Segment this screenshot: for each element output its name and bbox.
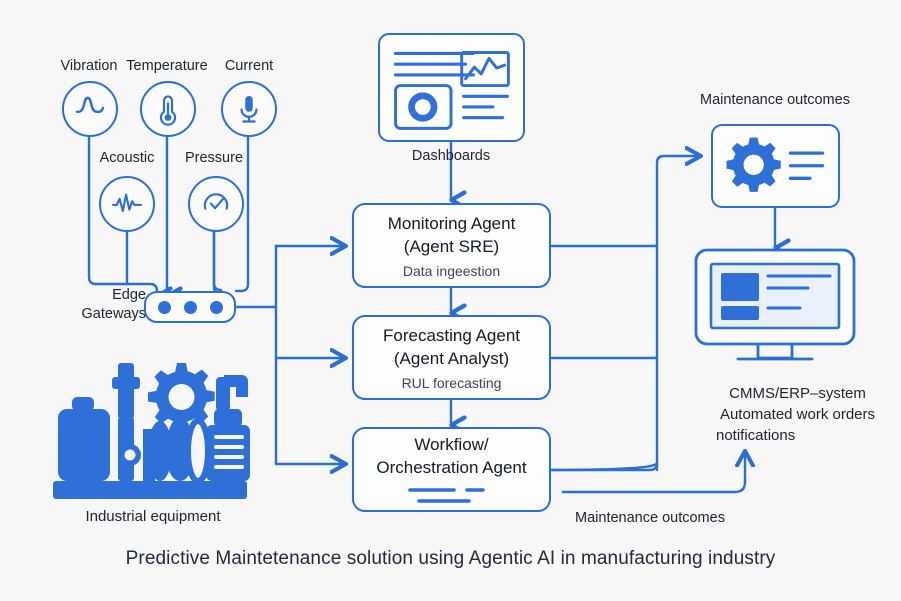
forecasting-agent-title-line1: Forecasting Agent	[383, 324, 520, 347]
gauge-icon	[190, 178, 242, 230]
gateway-dot-2	[184, 301, 197, 314]
dashboards-label: Dashboards	[391, 148, 511, 165]
maintenance-outcomes-top-label: Maintenance outcomes	[680, 92, 870, 109]
workflow-lines-icon	[407, 485, 497, 507]
gateway-dot-3	[210, 301, 223, 314]
industrial-equipment-illustration	[48, 355, 258, 505]
monitoring-agent-title-line1: Monitoring Agent	[388, 212, 516, 235]
monitoring-agent-title-line2: (Agent SRE)	[404, 235, 499, 258]
edge-gateway-label-line2: Gateways	[62, 305, 146, 324]
cmms-caption: CMMS/ERP–system Automated work orders no…	[700, 383, 895, 446]
sensor-circle-vibration[interactable]	[62, 81, 118, 137]
edge-gateway-label: Edge Gateways	[62, 286, 146, 324]
vibration-wave-icon	[64, 83, 116, 135]
gear-outcome-icon	[713, 126, 838, 207]
agent-box-monitoring[interactable]: Monitoring Agent (Agent SRE) Data ingees…	[352, 203, 551, 288]
edge-gateway-device[interactable]	[144, 291, 236, 323]
acoustic-wave-icon	[101, 178, 153, 230]
forecasting-agent-title-line2: (Agent Analyst)	[394, 347, 509, 370]
industrial-equipment-label: Industrial equipment	[38, 508, 268, 525]
workflow-agent-title-line1: Workfiow/	[414, 433, 488, 456]
monitor-icon	[694, 248, 856, 372]
dashboard-icon	[380, 35, 523, 141]
monitoring-agent-subtitle: Data ingeestion	[403, 263, 500, 279]
cmms-subtitle-1: Automated work orders	[700, 404, 895, 425]
sensor-circle-current[interactable]	[221, 81, 277, 137]
diagram-canvas: Vibration Temperature Current Acoustic P…	[0, 0, 901, 601]
gateway-dot-1	[158, 301, 171, 314]
agent-box-forecasting[interactable]: Forecasting Agent (Agent Analyst) RUL fo…	[352, 315, 551, 400]
workflow-agent-title-line2: Orchestration Agent	[376, 456, 526, 479]
forecasting-agent-subtitle: RUL forecasting	[402, 375, 502, 391]
maintenance-outcomes-bottom-label: Maintenance outcomes	[555, 510, 745, 527]
cmms-title: CMMS/ERP–system	[700, 383, 895, 404]
sensor-circle-acoustic[interactable]	[99, 176, 155, 232]
sensor-label-acoustic: Acoustic	[83, 150, 171, 167]
edge-gateway-label-line1: Edge	[62, 286, 146, 305]
thermometer-icon	[142, 83, 194, 135]
sensor-label-pressure: Pressure	[170, 150, 258, 167]
sensor-circle-pressure[interactable]	[188, 176, 244, 232]
cmms-subtitle-2: notifications	[700, 425, 895, 446]
donut-chart	[408, 92, 437, 121]
sensor-label-current: Current	[205, 58, 293, 75]
cmms-monitor[interactable]	[694, 248, 856, 372]
agent-box-workflow[interactable]: Workfiow/ Orchestration Agent	[352, 427, 551, 512]
dashboards-card[interactable]	[378, 33, 525, 142]
industrial-equipment-icon	[48, 355, 258, 505]
sensor-circle-temperature[interactable]	[140, 81, 196, 137]
diagram-caption: Predictive Maintetenance solution using …	[0, 548, 901, 570]
maintenance-outcomes-card[interactable]	[711, 124, 840, 208]
microphone-icon	[223, 83, 275, 135]
